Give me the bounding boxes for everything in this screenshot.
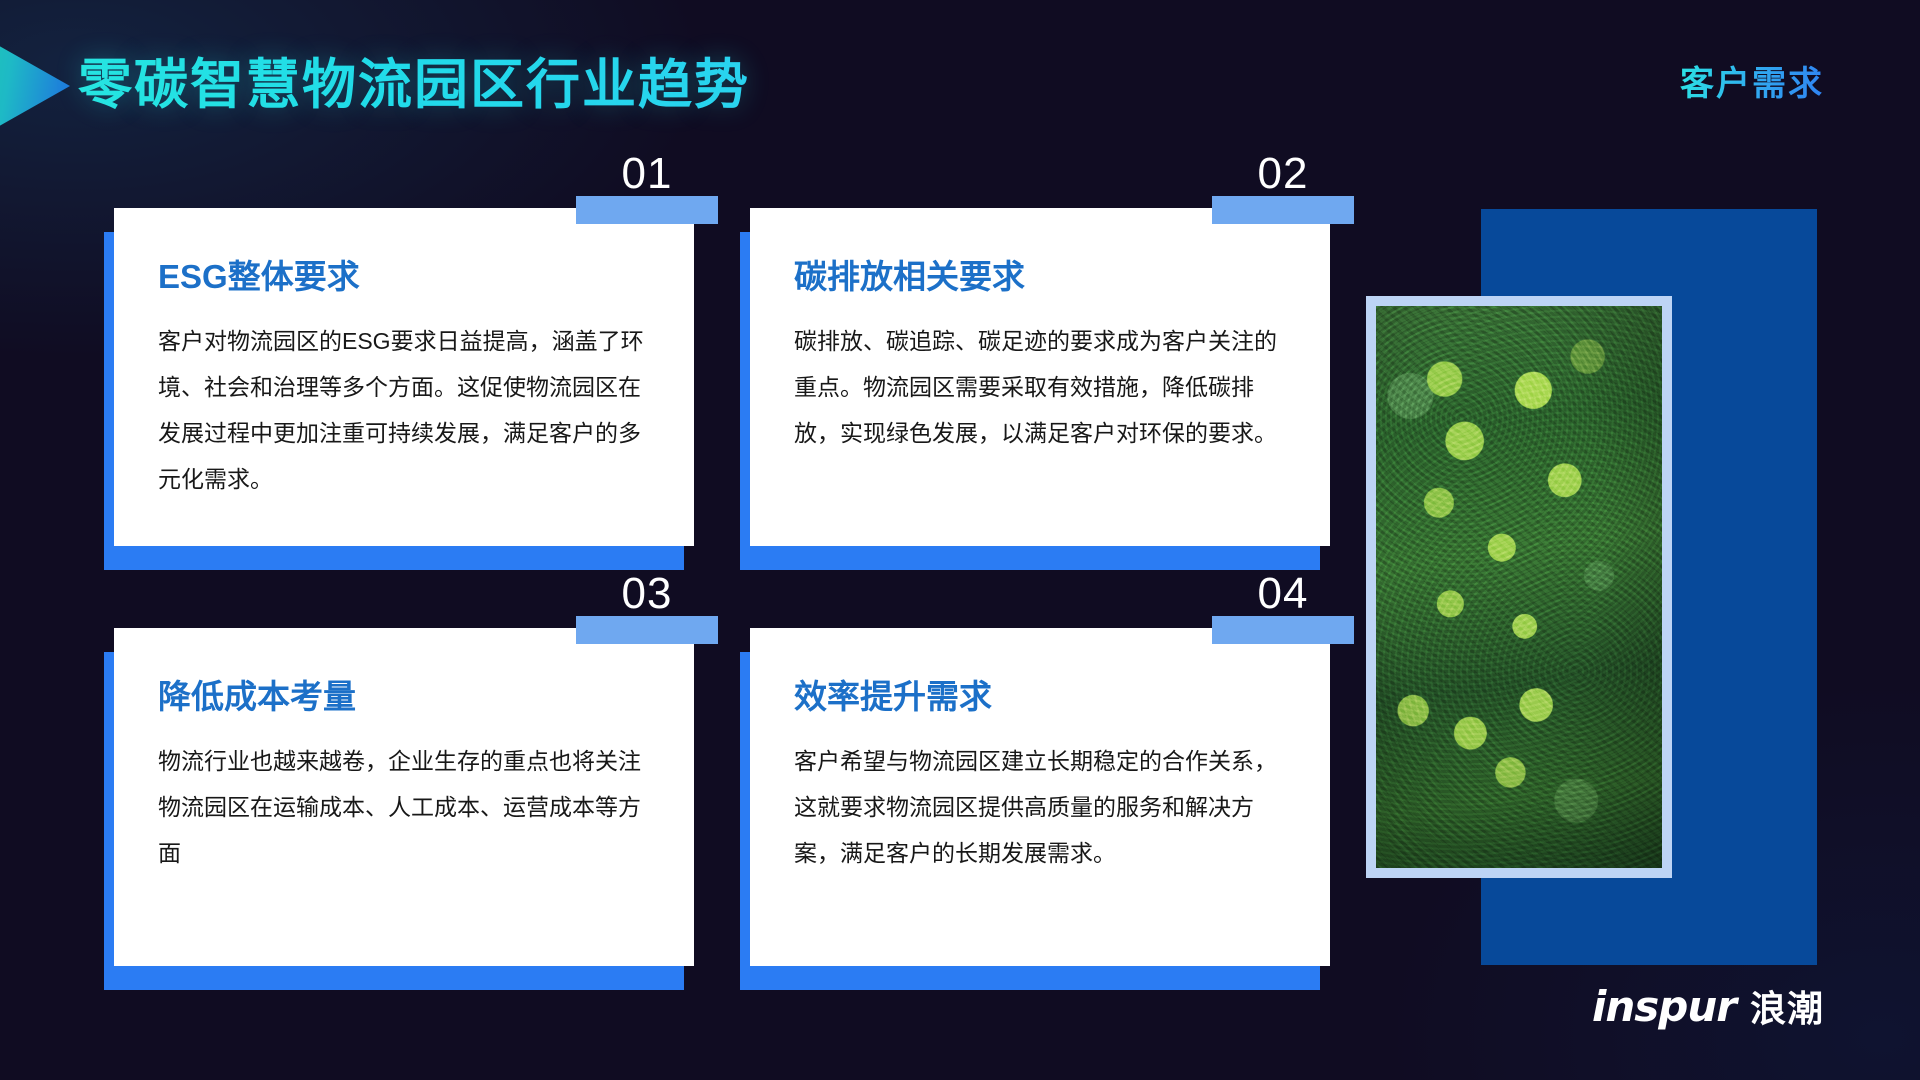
card-surface: 降低成本考量 物流行业也越来越卷，企业生存的重点也将关注物流园区在运输成本、人工… [114,628,694,966]
logo-chinese-name: 浪潮 [1750,980,1824,1032]
logo-wordmark: inspur [1592,982,1736,1031]
card-surface: ESG整体要求 客户对物流园区的ESG要求日益提高，涵盖了环境、社会和治理等多个… [114,208,694,546]
card-number: 01 [576,152,718,196]
card-number: 04 [1212,572,1354,616]
info-card-01[interactable]: ESG整体要求 客户对物流园区的ESG要求日益提高，涵盖了环境、社会和治理等多个… [104,208,684,546]
page-title: 零碳智慧物流园区行业趋势 [78,40,750,119]
header-arrow-icon [0,34,70,138]
info-card-03[interactable]: 降低成本考量 物流行业也越来越卷，企业生存的重点也将关注物流园区在运输成本、人工… [104,628,684,966]
card-number: 02 [1212,152,1354,196]
forest-canopy-image [1376,306,1662,868]
card-number-bar [576,616,718,644]
section-tag: 客户需求 [1680,56,1824,105]
card-number-bar [1212,616,1354,644]
card-body-text: 碳排放、碳追踪、碳足迹的要求成为客户关注的重点。物流园区需要采取有效措施，降低碳… [794,318,1296,456]
card-heading: ESG整体要求 [158,250,360,298]
card-heading: 降低成本考量 [158,670,356,718]
card-body-text: 物流行业也越来越卷，企业生存的重点也将关注物流园区在运输成本、人工成本、运营成本… [158,738,660,876]
card-surface: 碳排放相关要求 碳排放、碳追踪、碳足迹的要求成为客户关注的重点。物流园区需要采取… [750,208,1330,546]
info-card-04[interactable]: 效率提升需求 客户希望与物流园区建立长期稳定的合作关系，这就要求物流园区提供高质… [740,628,1320,966]
card-heading: 碳排放相关要求 [794,250,1025,298]
card-number-bar [1212,196,1354,224]
card-number: 03 [576,572,718,616]
card-body-text: 客户对物流园区的ESG要求日益提高，涵盖了环境、社会和治理等多个方面。这促使物流… [158,318,660,502]
card-number-bar [576,196,718,224]
card-surface: 效率提升需求 客户希望与物流园区建立长期稳定的合作关系，这就要求物流园区提供高质… [750,628,1330,966]
card-body-text: 客户希望与物流园区建立长期稳定的合作关系，这就要求物流园区提供高质量的服务和解决… [794,738,1296,876]
info-card-02[interactable]: 碳排放相关要求 碳排放、碳追踪、碳足迹的要求成为客户关注的重点。物流园区需要采取… [740,208,1320,546]
brand-logo: inspur 浪潮 [1592,980,1824,1032]
card-heading: 效率提升需求 [794,670,992,718]
forest-photo-frame [1366,296,1672,878]
